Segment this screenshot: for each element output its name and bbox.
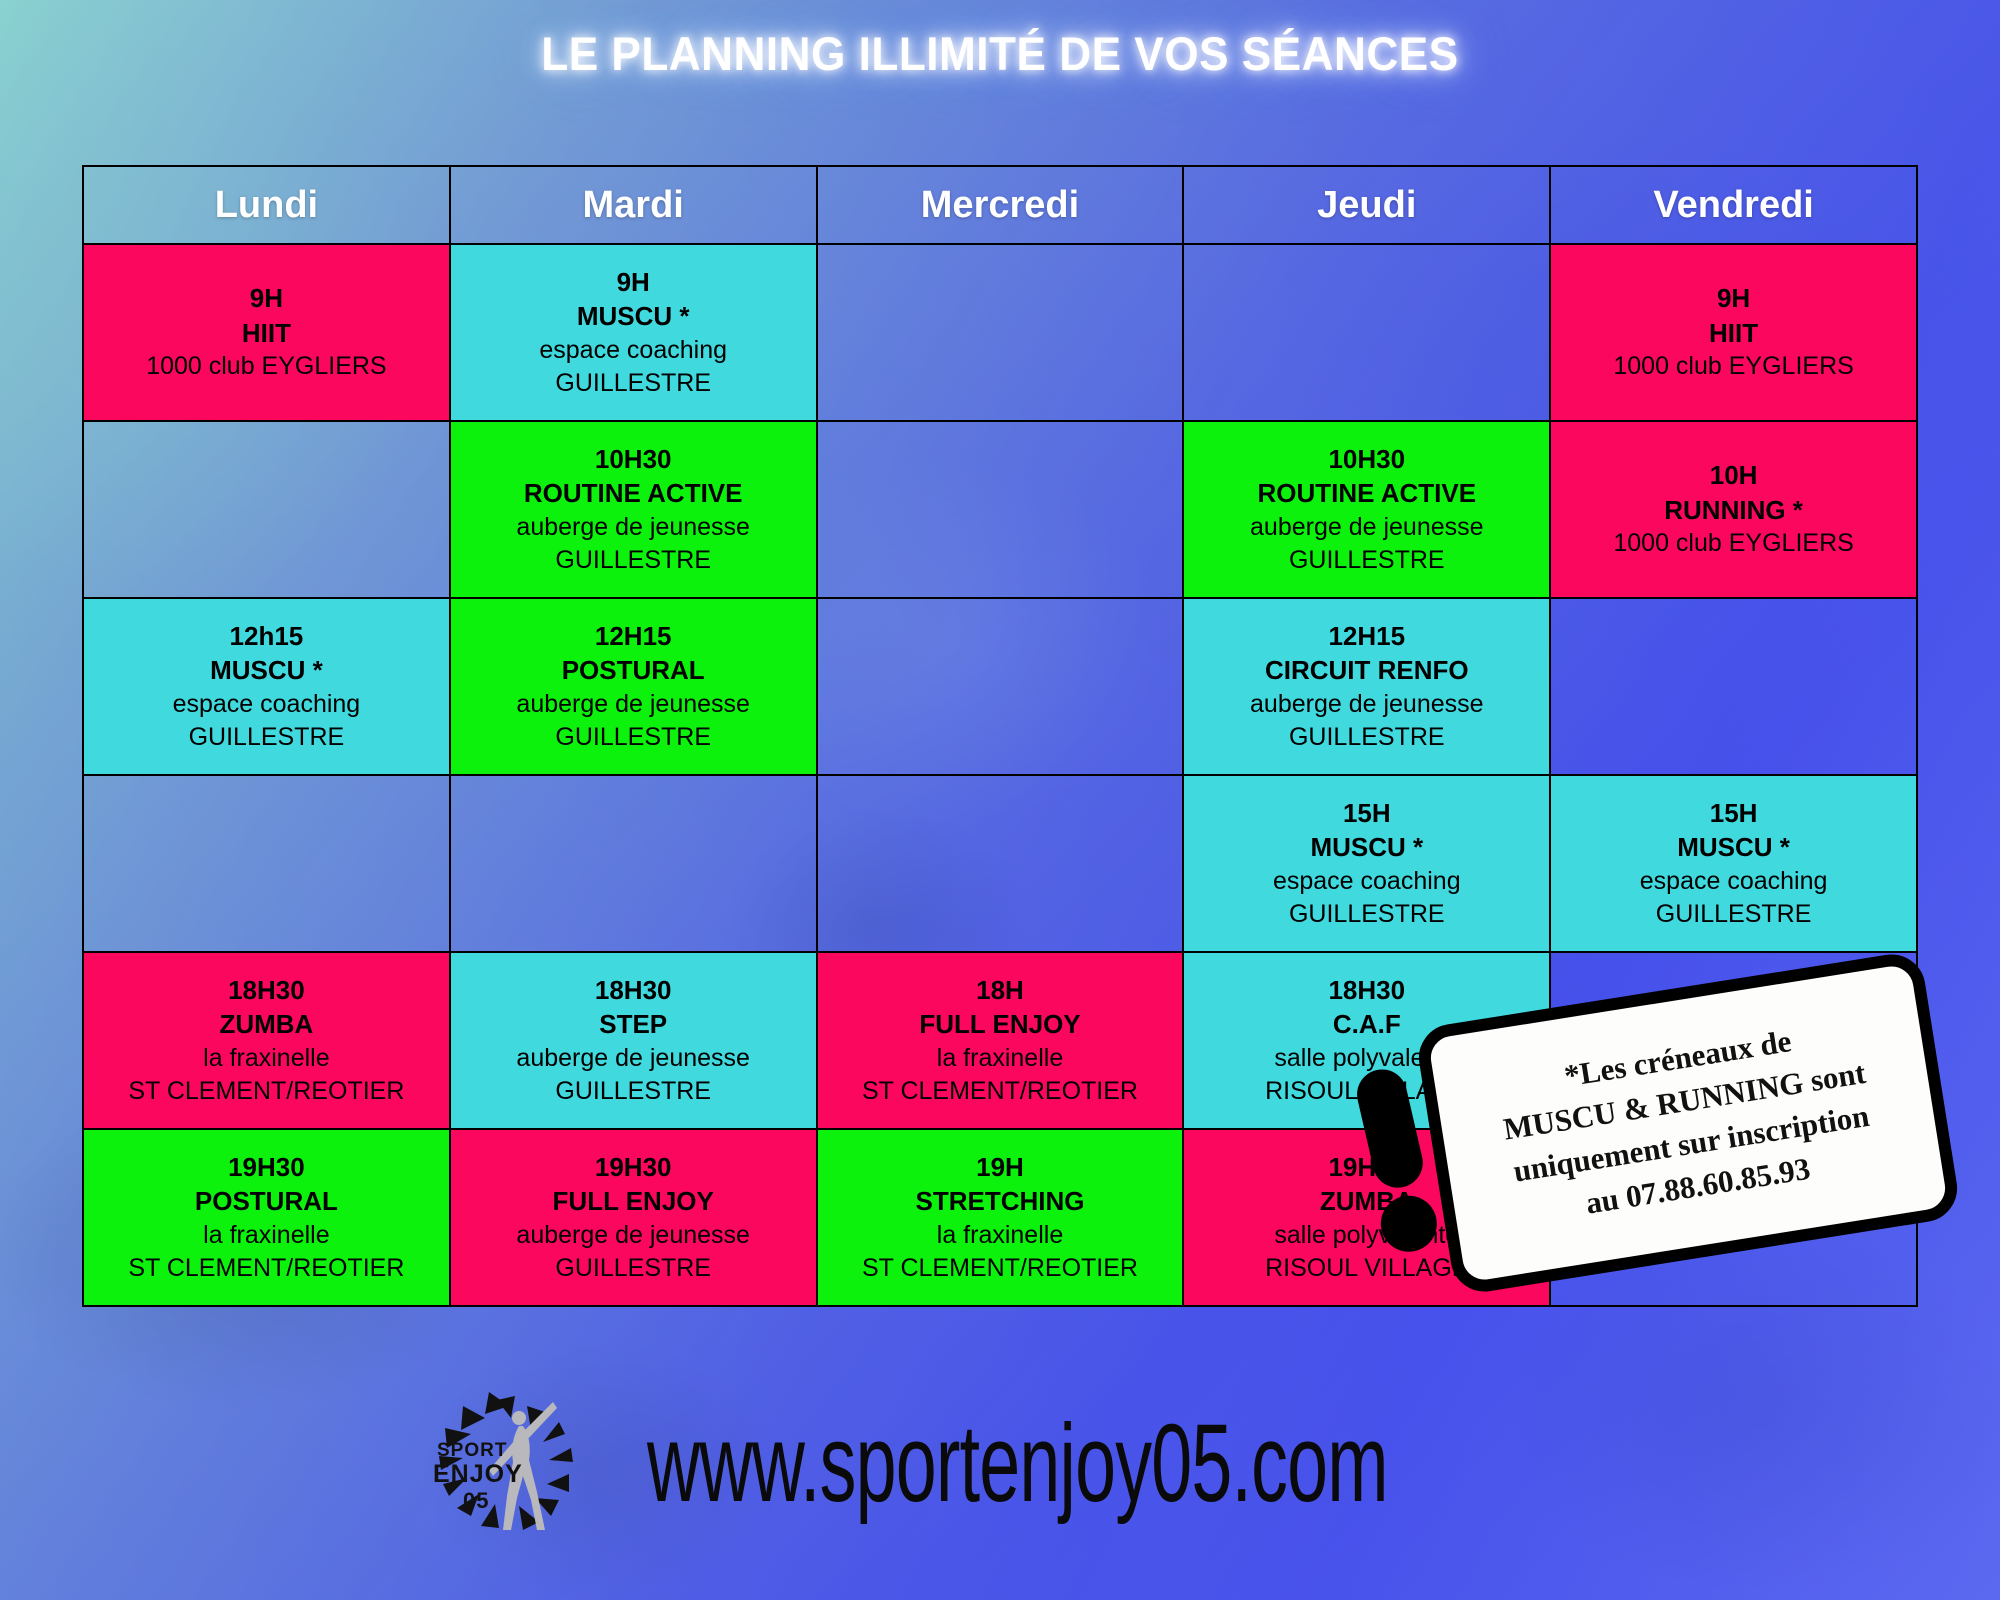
session-time: 18H30: [1190, 973, 1543, 1008]
session-cell[interactable]: 10H30ROUTINE ACTIVEauberge de jeunesseGU…: [450, 421, 817, 598]
session-name: MUSCU *: [90, 653, 443, 688]
website-url[interactable]: www.sportenjoy05.com: [647, 1401, 1388, 1527]
session-place: la fraxinelle: [90, 1042, 443, 1075]
session-city: GUILLESTRE: [457, 1075, 810, 1108]
session-city: GUILLESTRE: [457, 1252, 810, 1285]
session-time: 10H30: [1190, 442, 1543, 477]
day-header-vendredi: Vendredi: [1550, 166, 1917, 244]
session-time: 12H15: [457, 619, 810, 654]
session-time: 10H: [1557, 458, 1910, 493]
session-cell-empty: [1183, 244, 1550, 421]
session-cell-empty: [83, 421, 450, 598]
session-cell-empty: [1550, 598, 1917, 775]
session-place: auberge de jeunesse: [457, 1219, 810, 1252]
session-name: STEP: [457, 1007, 810, 1042]
session-place: 1000 club EYGLIERS: [90, 350, 443, 383]
session-cell-empty: [83, 775, 450, 952]
session-city: ST CLEMENT/REOTIER: [90, 1075, 443, 1108]
session-cell[interactable]: 19H30POSTURALla fraxinelleST CLEMENT/REO…: [83, 1129, 450, 1306]
session-name: ROUTINE ACTIVE: [457, 476, 810, 511]
footer: SPORT ENJOY 05 www.sportenjoy05.com: [0, 1384, 2000, 1544]
session-name: CIRCUIT RENFO: [1190, 653, 1543, 688]
session-cell[interactable]: 15HMUSCU *espace coachingGUILLESTRE: [1550, 775, 1917, 952]
day-header-jeudi: Jeudi: [1183, 166, 1550, 244]
session-name: HIIT: [1557, 316, 1910, 351]
session-name: MUSCU *: [457, 299, 810, 334]
session-place: la fraxinelle: [90, 1219, 443, 1252]
day-header-mercredi: Mercredi: [817, 166, 1184, 244]
session-time: 9H: [90, 281, 443, 316]
session-city: GUILLESTRE: [90, 721, 443, 754]
title-container: LE PLANNING ILLIMITÉ DE VOS SÉANCES: [0, 26, 2000, 81]
session-name: RUNNING *: [1557, 493, 1910, 528]
table-header-row: Lundi Mardi Mercredi Jeudi Vendredi: [83, 166, 1917, 244]
session-cell[interactable]: 15HMUSCU *espace coachingGUILLESTRE: [1183, 775, 1550, 952]
session-name: HIIT: [90, 316, 443, 351]
session-place: auberge de jeunesse: [457, 511, 810, 544]
session-time: 19H30: [90, 1150, 443, 1185]
session-name: ROUTINE ACTIVE: [1190, 476, 1543, 511]
session-cell[interactable]: 12H15POSTURALauberge de jeunesseGUILLEST…: [450, 598, 817, 775]
session-time: 18H: [824, 973, 1177, 1008]
session-cell[interactable]: 12H15CIRCUIT RENFOauberge de jeunesseGUI…: [1183, 598, 1550, 775]
table-row: 15HMUSCU *espace coachingGUILLESTRE15HMU…: [83, 775, 1917, 952]
session-cell[interactable]: 9HMUSCU *espace coachingGUILLESTRE: [450, 244, 817, 421]
day-header-mardi: Mardi: [450, 166, 817, 244]
session-place: la fraxinelle: [824, 1042, 1177, 1075]
session-time: 15H: [1557, 796, 1910, 831]
session-place: espace coaching: [90, 688, 443, 721]
session-time: 9H: [457, 265, 810, 300]
session-name: POSTURAL: [90, 1184, 443, 1219]
session-cell[interactable]: 18HFULL ENJOYla fraxinelleST CLEMENT/REO…: [817, 952, 1184, 1129]
table-row: 10H30ROUTINE ACTIVEauberge de jeunesseGU…: [83, 421, 1917, 598]
logo-icon: SPORT ENJOY 05: [427, 1384, 607, 1544]
session-city: GUILLESTRE: [1190, 898, 1543, 931]
session-cell[interactable]: 19HSTRETCHINGla fraxinelleST CLEMENT/REO…: [817, 1129, 1184, 1306]
session-cell[interactable]: 18H30ZUMBAla fraxinelleST CLEMENT/REOTIE…: [83, 952, 450, 1129]
session-place: espace coaching: [1190, 865, 1543, 898]
session-time: 12H15: [1190, 619, 1543, 654]
session-city: ST CLEMENT/REOTIER: [90, 1252, 443, 1285]
poster-root: LE PLANNING ILLIMITÉ DE VOS SÉANCES Lund…: [0, 0, 2000, 1600]
session-name: FULL ENJOY: [457, 1184, 810, 1219]
session-cell-empty: [817, 244, 1184, 421]
session-name: MUSCU *: [1557, 830, 1910, 865]
session-name: ZUMBA: [90, 1007, 443, 1042]
session-city: GUILLESTRE: [457, 367, 810, 400]
session-city: GUILLESTRE: [1190, 544, 1543, 577]
session-name: MUSCU *: [1190, 830, 1543, 865]
day-header-lundi: Lundi: [83, 166, 450, 244]
session-cell[interactable]: 9HHIIT1000 club EYGLIERS: [1550, 244, 1917, 421]
table-row: 12h15MUSCU *espace coachingGUILLESTRE12H…: [83, 598, 1917, 775]
sport-enjoy-logo: SPORT ENJOY 05: [427, 1384, 607, 1544]
table-row: 9HHIIT1000 club EYGLIERS9HMUSCU *espace …: [83, 244, 1917, 421]
session-place: espace coaching: [1557, 865, 1910, 898]
session-cell-empty: [817, 598, 1184, 775]
session-city: GUILLESTRE: [457, 721, 810, 754]
session-name: STRETCHING: [824, 1184, 1177, 1219]
session-city: GUILLESTRE: [1190, 721, 1543, 754]
session-cell[interactable]: 18H30STEPauberge de jeunesseGUILLESTRE: [450, 952, 817, 1129]
logo-word-sport: SPORT: [437, 1440, 507, 1461]
session-place: auberge de jeunesse: [1190, 511, 1543, 544]
session-place: 1000 club EYGLIERS: [1557, 350, 1910, 383]
session-time: 12h15: [90, 619, 443, 654]
session-city: GUILLESTRE: [457, 544, 810, 577]
session-time: 10H30: [457, 442, 810, 477]
session-city: ST CLEMENT/REOTIER: [824, 1075, 1177, 1108]
session-place: espace coaching: [457, 334, 810, 367]
session-time: 15H: [1190, 796, 1543, 831]
session-place: auberge de jeunesse: [457, 1042, 810, 1075]
session-cell[interactable]: 10H30ROUTINE ACTIVEauberge de jeunesseGU…: [1183, 421, 1550, 598]
session-place: la fraxinelle: [824, 1219, 1177, 1252]
session-place: auberge de jeunesse: [457, 688, 810, 721]
session-time: 18H30: [457, 973, 810, 1008]
session-cell-empty: [450, 775, 817, 952]
session-place: 1000 club EYGLIERS: [1557, 527, 1910, 560]
session-city: GUILLESTRE: [1557, 898, 1910, 931]
session-city: ST CLEMENT/REOTIER: [824, 1252, 1177, 1285]
session-time: 18H30: [90, 973, 443, 1008]
session-time: 19H: [824, 1150, 1177, 1185]
logo-word-05: 05: [463, 1488, 489, 1513]
session-name: FULL ENJOY: [824, 1007, 1177, 1042]
session-cell[interactable]: 10HRUNNING *1000 club EYGLIERS: [1550, 421, 1917, 598]
session-cell-empty: [817, 775, 1184, 952]
session-cell[interactable]: 9HHIIT1000 club EYGLIERS: [83, 244, 450, 421]
session-cell[interactable]: 12h15MUSCU *espace coachingGUILLESTRE: [83, 598, 450, 775]
session-time: 9H: [1557, 281, 1910, 316]
session-place: auberge de jeunesse: [1190, 688, 1543, 721]
logo-word-enjoy: ENJOY: [433, 1460, 523, 1488]
session-cell-empty: [817, 421, 1184, 598]
page-title: LE PLANNING ILLIMITÉ DE VOS SÉANCES: [541, 26, 1458, 81]
session-time: 19H30: [457, 1150, 810, 1185]
session-name: POSTURAL: [457, 653, 810, 688]
session-cell[interactable]: 19H30FULL ENJOYauberge de jeunesseGUILLE…: [450, 1129, 817, 1306]
